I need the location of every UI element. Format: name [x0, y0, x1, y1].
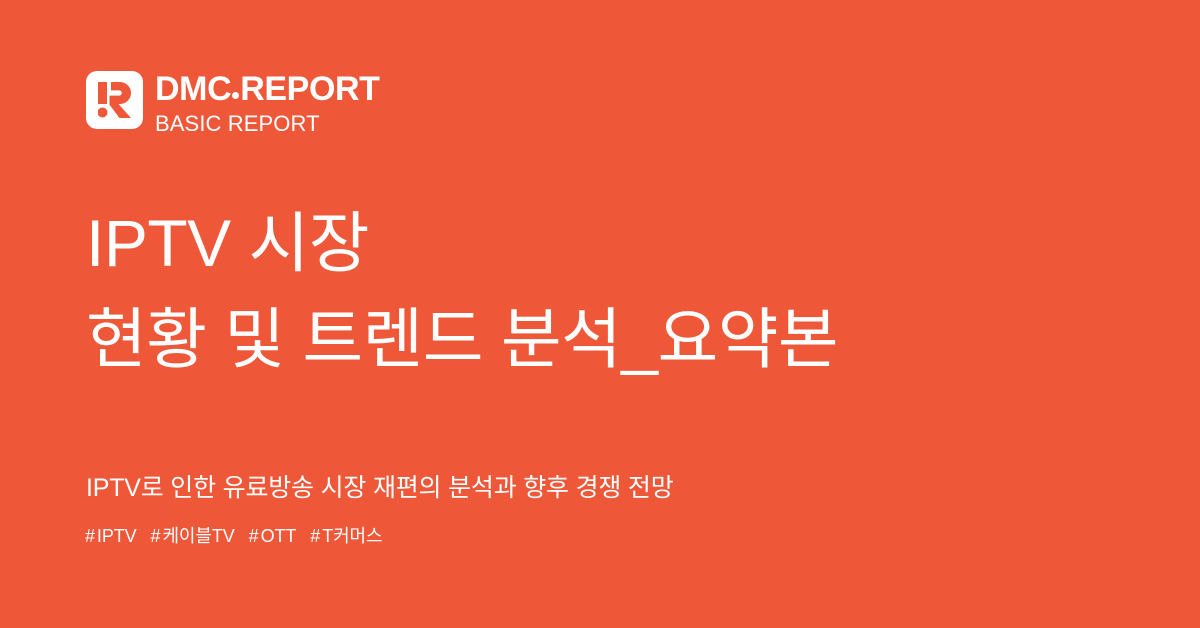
separator-dot-icon: [232, 92, 239, 99]
hash-icon: #: [310, 526, 320, 546]
tag-item: #OTT: [249, 525, 297, 548]
tag-label: IPTV: [97, 526, 137, 546]
report-cover: DMC REPORT BASIC REPORT IPTV 시장 현황 및 트렌드…: [0, 0, 1200, 628]
brand-lockup: DMC REPORT BASIC REPORT: [86, 71, 380, 135]
tag-label: 케이블TV: [162, 526, 234, 546]
tag-item: #T커머스: [310, 525, 382, 548]
page-title: IPTV 시장 현황 및 트렌드 분석_요약본: [86, 196, 838, 387]
dmc-r-monogram-icon: [86, 71, 143, 129]
page-title-line-1: IPTV 시장: [86, 196, 838, 292]
hash-icon: #: [151, 526, 161, 546]
tag-list: #IPTV #케이블TV #OTT #T커머스: [85, 525, 382, 548]
brand-wordmark-report: REPORT: [240, 72, 379, 107]
page-title-line-2: 현황 및 트렌드 분석_요약본: [86, 292, 838, 388]
tag-label: OTT: [261, 526, 297, 546]
tag-item: #케이블TV: [151, 525, 235, 548]
brand-wordmark-dmc: DMC: [155, 72, 231, 107]
hash-icon: #: [85, 526, 95, 546]
page-subtitle: IPTV로 인한 유료방송 시장 재편의 분석과 향후 경쟁 전망: [86, 473, 674, 504]
tag-label: T커머스: [322, 526, 382, 546]
brand-tagline: BASIC REPORT: [155, 112, 380, 135]
brand-wordmark: DMC REPORT: [155, 72, 380, 107]
tag-item: #IPTV: [85, 525, 137, 548]
brand-text: DMC REPORT BASIC REPORT: [155, 71, 380, 135]
hash-icon: #: [249, 526, 259, 546]
